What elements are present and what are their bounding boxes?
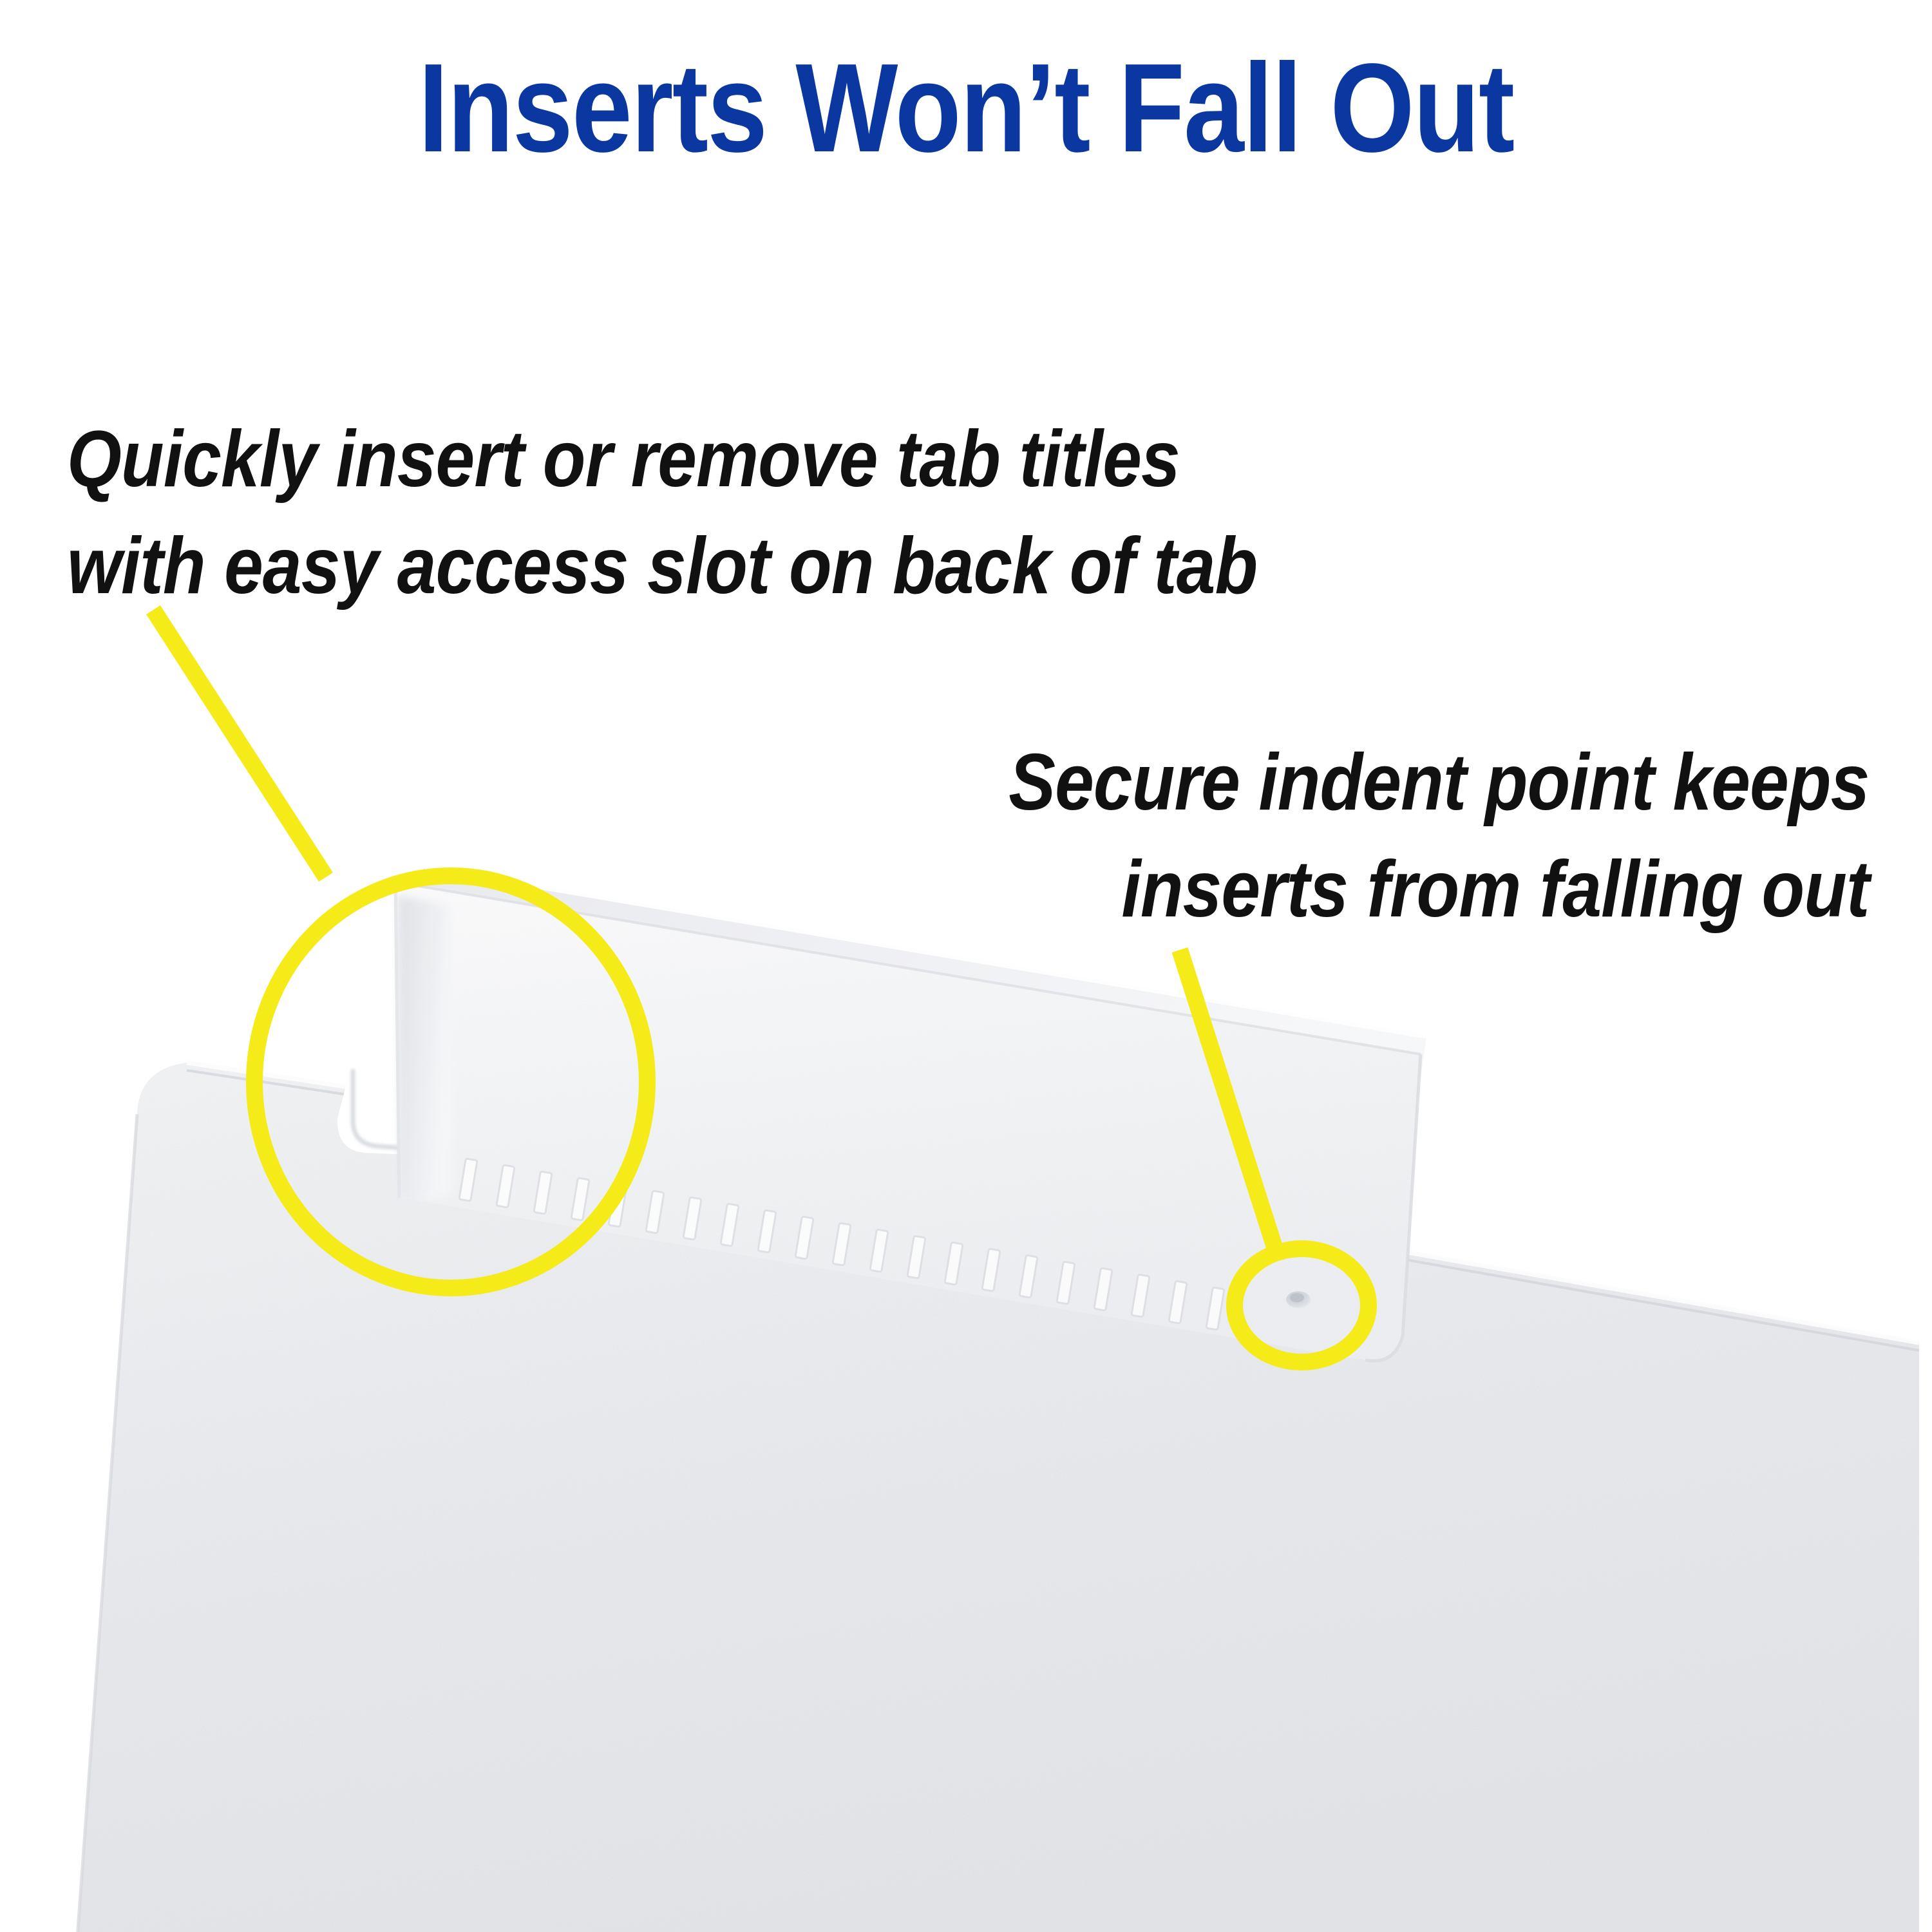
product-photo-svg [0,0,1932,1932]
callout-secure-indent-point: Secure indent point keeps inserts from f… [1009,729,1869,943]
callout-easy-access-slot: Quickly insert or remove tab titles with… [67,406,1257,620]
secure-indent-point-dimple [1286,1291,1311,1308]
product-feature-graphic: Inserts Won’t Fall Out Quickly insert or… [0,0,1932,1932]
page-title: Inserts Won’t Fall Out [135,45,1797,171]
product-photo [0,0,1932,1932]
